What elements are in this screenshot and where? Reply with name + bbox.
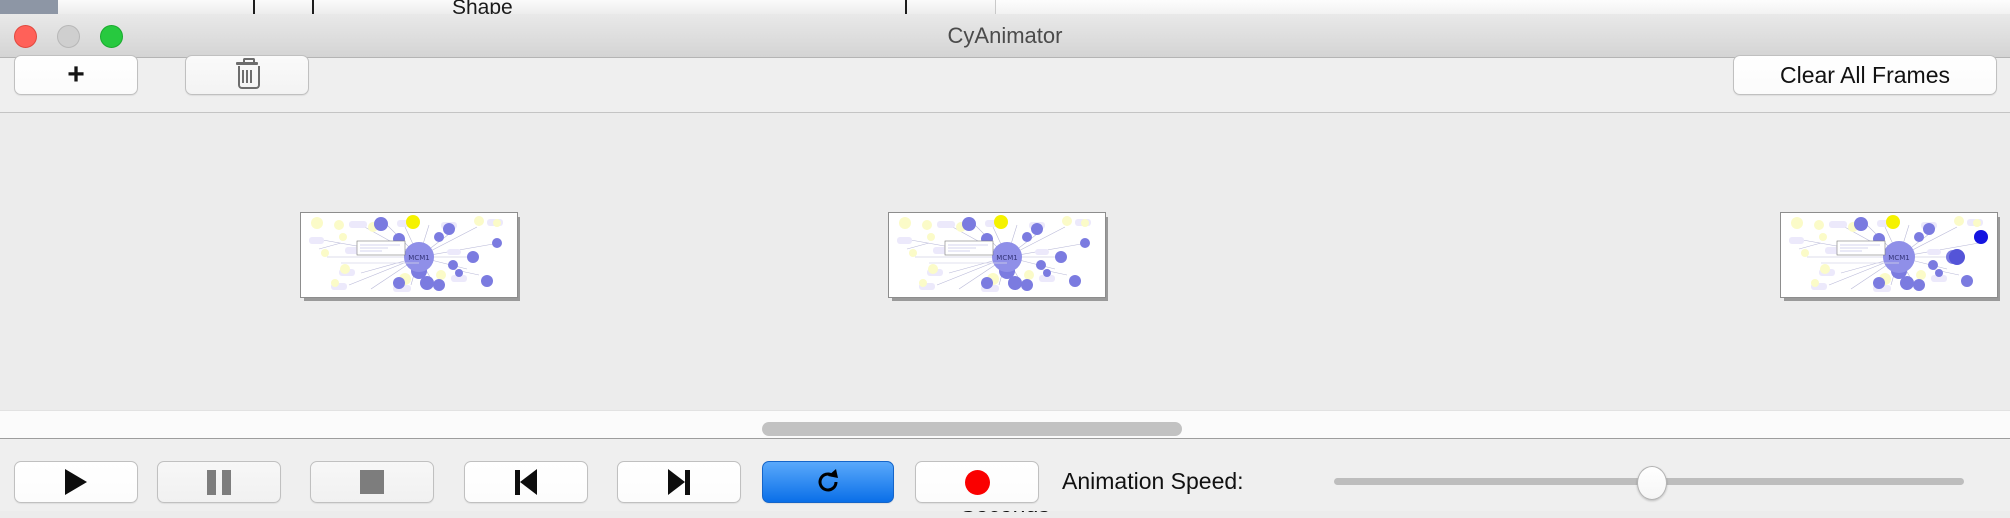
background-seg bbox=[885, 0, 996, 14]
pause-icon bbox=[207, 470, 231, 495]
title-bar: CyAnimator bbox=[0, 14, 2010, 58]
play-icon bbox=[65, 469, 87, 495]
window-title: CyAnimator bbox=[0, 14, 2010, 57]
skip-back-icon bbox=[515, 469, 537, 495]
add-frame-button[interactable]: + bbox=[14, 55, 138, 95]
stop-button[interactable] bbox=[310, 461, 434, 503]
plus-icon: + bbox=[67, 60, 85, 90]
network-thumbnail-graphic: MCM1 bbox=[301, 213, 517, 297]
cyanimator-window: Shape CyAnimator + Clear All Frames bbox=[0, 0, 2010, 510]
play-button[interactable] bbox=[14, 461, 138, 503]
background-seg bbox=[305, 0, 446, 14]
background-shape-label: Shape bbox=[452, 0, 513, 14]
background-dark-block bbox=[0, 0, 58, 14]
timeline-panel[interactable]: 2 13 14 15 16 17 18 Seconds bbox=[0, 113, 2010, 410]
record-button[interactable] bbox=[915, 461, 1039, 503]
frame-thumbnail: MCM1 bbox=[888, 212, 1106, 298]
background-tick bbox=[253, 0, 255, 14]
background-seg bbox=[58, 0, 149, 14]
animation-speed-slider-thumb[interactable] bbox=[1637, 466, 1667, 500]
timeline-frame[interactable]: MCM1 bbox=[300, 212, 516, 296]
svg-text:MCM1: MCM1 bbox=[1888, 254, 1909, 262]
trash-icon bbox=[236, 62, 258, 88]
next-frame-button[interactable] bbox=[617, 461, 741, 503]
animation-speed-label: Animation Speed: bbox=[1062, 461, 1244, 501]
skip-forward-icon bbox=[668, 469, 690, 495]
timeline-frame[interactable]: MCM1 bbox=[888, 212, 1104, 296]
timeline-frame[interactable]: MCM1 bbox=[1780, 212, 1996, 296]
frame-thumbnail: MCM1 bbox=[1780, 212, 1998, 298]
clear-all-frames-button[interactable]: Clear All Frames bbox=[1733, 55, 1997, 95]
pause-button[interactable] bbox=[157, 461, 281, 503]
network-thumbnail-graphic: MCM1 bbox=[889, 213, 1105, 297]
svg-text:MCM1: MCM1 bbox=[408, 254, 429, 262]
background-seg bbox=[193, 0, 246, 14]
record-icon bbox=[965, 470, 990, 495]
network-thumbnail-graphic: MCM1 bbox=[1781, 213, 1997, 297]
background-tick bbox=[905, 0, 907, 14]
background-tick bbox=[312, 0, 314, 14]
prev-frame-button[interactable] bbox=[464, 461, 588, 503]
svg-text:MCM1: MCM1 bbox=[996, 254, 1017, 262]
loop-icon bbox=[813, 467, 843, 497]
background-window-strip: Shape bbox=[0, 0, 2010, 14]
background-seg bbox=[148, 0, 194, 14]
stop-icon bbox=[360, 470, 384, 494]
delete-frame-button[interactable] bbox=[185, 55, 309, 95]
frame-thumbnail: MCM1 bbox=[300, 212, 518, 298]
loop-button[interactable] bbox=[762, 461, 894, 503]
timeline-scrollbar-thumb[interactable] bbox=[762, 422, 1182, 436]
